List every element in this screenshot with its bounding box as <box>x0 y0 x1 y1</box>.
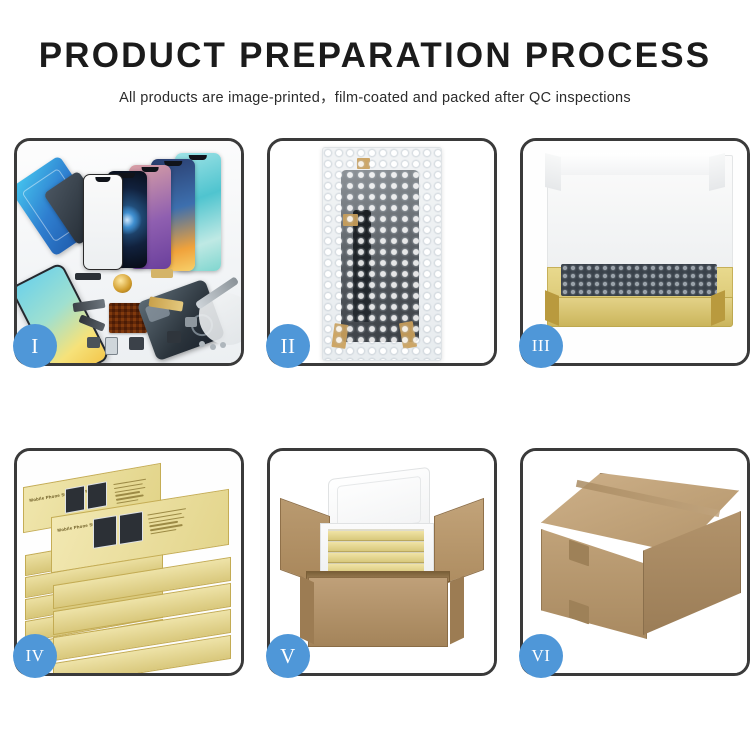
step-1-badge: I <box>13 324 57 368</box>
boxes-inside-foam <box>328 529 424 575</box>
yellow-box-front-icon <box>547 297 733 327</box>
carton-front-face <box>308 577 448 647</box>
page-header: PRODUCT PREPARATION PROCESS All products… <box>0 0 750 107</box>
chip-3-icon <box>129 337 144 350</box>
chip-1-icon <box>75 273 101 280</box>
carton-left-face <box>541 529 647 639</box>
product-preparation-process-page: PRODUCT PREPARATION PROCESS All products… <box>0 0 750 750</box>
box-corner-right <box>711 290 725 326</box>
carton-bevel-right <box>450 576 464 645</box>
speaker-coil-icon <box>113 274 132 293</box>
step-2-numeral: II <box>281 334 296 359</box>
page-title: PRODUCT PREPARATION PROCESS <box>0 38 750 75</box>
bubble-wrap-bag-icon <box>322 147 442 361</box>
box-screen-thumb-3 <box>93 515 117 549</box>
box-lid-flap-left <box>545 153 561 191</box>
chip-2-icon <box>151 269 173 278</box>
process-step-1: I <box>14 138 244 366</box>
camera-module-icon <box>105 337 118 355</box>
step-5-numeral: V <box>280 644 296 669</box>
box-stack-icon: Mobile Phone Spare Parts Mobile Phone Sp… <box>23 467 239 665</box>
grey-bubble-wrap-icon <box>561 264 717 296</box>
step-3-badge: III <box>519 324 563 368</box>
step-1-numeral: I <box>31 334 39 359</box>
box-screen-thumb-2 <box>87 481 107 510</box>
box-screen-thumb-4 <box>119 511 143 545</box>
step-6-numeral: VI <box>532 646 551 666</box>
step-4-numeral: IV <box>26 646 45 666</box>
carton-bevel-left <box>300 576 314 645</box>
bracket-icon <box>185 317 197 327</box>
box-lid-flap-right <box>709 153 725 191</box>
step-2-badge: II <box>266 324 310 368</box>
page-subtitle: All products are image-printed，film-coat… <box>0 86 750 107</box>
process-step-grid: I II <box>14 138 736 676</box>
process-step-2: II <box>267 138 497 366</box>
step-4-badge: IV <box>13 634 57 678</box>
vibrator-module-icon <box>167 331 181 343</box>
process-step-3: III <box>520 138 750 366</box>
bubble-texture-overlay <box>323 148 441 360</box>
phone-screen-1-icon <box>83 174 123 270</box>
step-6-badge: VI <box>519 634 563 678</box>
box-corner-left <box>545 290 559 326</box>
screws-icon <box>199 341 229 353</box>
process-step-5: V <box>267 448 497 676</box>
box-screen-thumb-1 <box>65 485 85 514</box>
step-5-badge: V <box>266 634 310 678</box>
phone-fan-group <box>77 153 241 278</box>
step-3-numeral: III <box>532 336 550 356</box>
connector-icon <box>87 337 100 348</box>
process-step-6: VI <box>520 448 750 676</box>
box-lid-top-edge <box>553 153 725 175</box>
process-step-4: Mobile Phone Spare Parts Mobile Phone Sp… <box>14 448 244 676</box>
